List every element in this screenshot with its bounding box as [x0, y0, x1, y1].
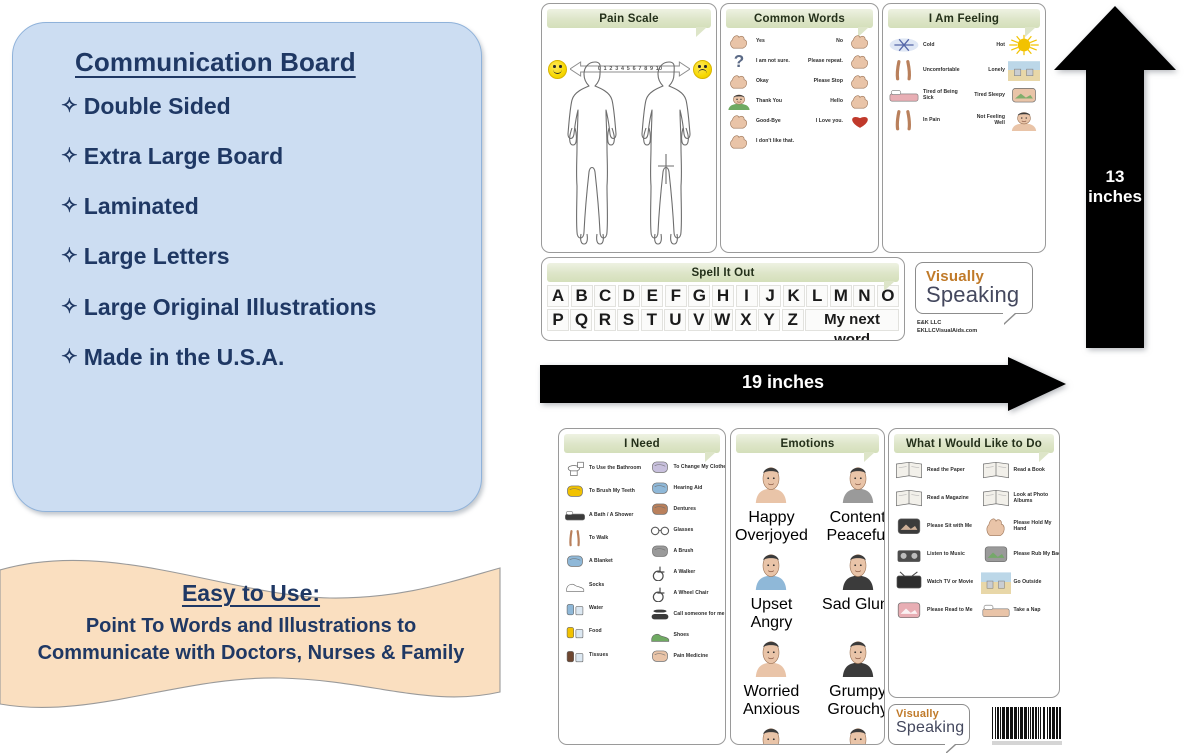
feature-item: ✧ Extra Large Board [61, 144, 459, 168]
barcode [992, 707, 1062, 745]
pictogram-label: A Brush [674, 548, 694, 554]
barcode-bar [1000, 707, 1001, 739]
common-words-grid: YesNo?I am not sure.Please repeat.OkayPl… [721, 28, 878, 150]
pictogram-label: Glasses [674, 527, 694, 533]
book-icon [981, 458, 1011, 482]
pictogram-cell: Hello [801, 92, 875, 110]
alphabet-key[interactable]: Y [758, 309, 780, 331]
hand-repeat-icon [846, 52, 874, 70]
i-need-right-column: To Change My Clothes Hearing Aid Denture… [649, 458, 727, 665]
pictogram-label: Go Outside [1014, 579, 1042, 585]
brand-logo-front: Visually Speaking [915, 262, 1033, 314]
tshirt-hanger-icon [649, 458, 671, 476]
pictogram-cell: Cold [888, 34, 963, 56]
alphabet-key[interactable]: G [688, 285, 710, 307]
barcode-bar [1028, 707, 1029, 739]
emotions-grid: Happy Overjoyed Content Peaceful Stresse… [731, 453, 884, 745]
painful-wrist-icon [888, 109, 920, 131]
sock-icon [564, 576, 586, 594]
pictogram-cell: A Blanket [564, 551, 646, 571]
speech-tail-icon [945, 744, 955, 753]
barcode-bar [1024, 707, 1027, 739]
pictogram-cell: I Love you. [801, 112, 875, 130]
shoes-icon [649, 626, 671, 644]
pictogram-cell: Tired of Being Sick [888, 84, 963, 106]
feature-item-label: Extra Large Board [84, 144, 283, 168]
alphabet-key[interactable]: W [711, 309, 733, 331]
alphabet-key[interactable]: X [735, 309, 757, 331]
alphabet-key[interactable]: P [547, 309, 569, 331]
easy-line-1: Point To Words and Illustrations to [0, 613, 502, 640]
pictogram-label: Not Feeling Well [966, 114, 1006, 127]
brand-company: E&K LLC [917, 319, 941, 327]
pictogram-label: I am not sure. [756, 58, 790, 64]
pictogram-cell: To Change My Clothes [649, 458, 727, 476]
legs-walking-icon [564, 529, 586, 547]
pictogram-cell: Call someone for me [649, 605, 727, 623]
alphabet-key[interactable]: T [641, 309, 663, 331]
alphabet-key[interactable]: Q [570, 309, 592, 331]
easy-heading-wrap: Easy to Use: [0, 580, 502, 607]
nap-icon [981, 598, 1011, 622]
pictogram-label: Please Sit with Me [927, 523, 972, 529]
brand-website: EKLLCVisualAids.com [917, 327, 977, 335]
pictogram-label: Listen to Music [927, 551, 965, 557]
sad-face-portrait [838, 548, 878, 595]
bathtub-icon [564, 506, 586, 524]
heart-icon [846, 112, 874, 130]
pictogram-cell: Tissues [564, 645, 646, 665]
i-need-left-column: To Use the Bathroom To Brush My Teeth A … [564, 458, 646, 665]
feature-item: ✧ Large Letters [61, 244, 459, 268]
panel-emotions: Emotions Happy Overjoyed Content Peacefu… [730, 428, 885, 745]
alphabet-key[interactable]: V [688, 309, 710, 331]
pictogram-cell: Happy Overjoyed [735, 461, 808, 545]
barcode-bar [1040, 707, 1041, 739]
goodbye-hand-icon [725, 112, 753, 130]
diamond-bullet-icon: ✧ [61, 246, 78, 266]
alphabet-key[interactable]: F [665, 285, 687, 307]
feature-item: ✧ Laminated [61, 194, 459, 218]
alphabet-key[interactable]: N [853, 285, 875, 307]
pictogram-cell: Worried Anxious [735, 635, 808, 719]
pictogram-cell: I don't like that. [725, 132, 799, 150]
toothbrush-icon [564, 482, 586, 500]
snowflake-icon [888, 34, 920, 56]
unwell-face-icon [1008, 109, 1040, 131]
pictogram-label: Please Stop [814, 78, 843, 84]
barcode-bar [1049, 707, 1051, 739]
pictogram-label: A Bath / A Shower [589, 512, 633, 518]
body-outline-figures [542, 56, 717, 252]
feature-item-label: Laminated [84, 194, 199, 218]
brand-word-speaking: Speaking [926, 284, 1032, 306]
diamond-bullet-icon: ✧ [61, 96, 78, 116]
pictogram-cell: ?I am not sure. [725, 52, 799, 70]
eyeglasses-icon [649, 521, 671, 539]
pictogram-label: Worried Anxious [735, 683, 808, 719]
alphabet-key[interactable]: I [736, 285, 758, 307]
prescription-icon [649, 647, 671, 665]
pictogram-cell: Grumpy Grouchy [811, 635, 885, 719]
rub-back-icon [981, 542, 1011, 566]
television-icon [894, 570, 924, 594]
pictogram-cell: To Walk [564, 528, 646, 548]
pictogram-cell: Please Rub My Back [981, 542, 1061, 566]
easy-to-use-text: Easy to Use: Point To Words and Illustra… [0, 580, 502, 667]
pictogram-label: To Walk [589, 535, 608, 541]
empty-beach-chairs-icon [1008, 59, 1040, 81]
pictogram-label: Dentures [674, 506, 696, 512]
pictogram-cell: Read a Book [981, 458, 1061, 482]
feature-item-label: Made in the U.S.A. [84, 345, 285, 369]
pictogram-cell: Good-Bye [725, 112, 799, 130]
panel-header: Common Words [726, 9, 873, 28]
read-to-me-icon [894, 598, 924, 622]
open-palm-icon [846, 72, 874, 90]
pictogram-label: Look at Photo Albums [1014, 492, 1061, 505]
panel-pain-scale: Pain Scale 012345678910 [541, 3, 717, 253]
pictogram-label: Yes [756, 38, 765, 44]
pictogram-label: Read a Magazine [927, 495, 969, 501]
pictogram-cell: Lonely [966, 59, 1041, 81]
feature-item: ✧ Made in the U.S.A. [61, 345, 459, 369]
width-label: 19 inches [538, 372, 1028, 393]
panel-header: Emotions [736, 434, 879, 453]
barcode-bar [1020, 707, 1023, 739]
pictogram-cell: To Brush My Teeth [564, 481, 646, 501]
height-dimension-arrow: 13 inches [1050, 2, 1180, 352]
thank-you-face-icon [725, 92, 753, 110]
pictogram-cell: Thank You [725, 92, 799, 110]
alphabet-key[interactable]: J [759, 285, 781, 307]
panel-title: Pain Scale [599, 13, 659, 25]
ok-hand-icon [725, 72, 753, 90]
sore-arm-icon [888, 59, 920, 81]
pictogram-label: Call someone for me [674, 611, 725, 617]
pictogram-label: A Walker [674, 569, 696, 575]
diamond-bullet-icon: ✧ [61, 297, 78, 317]
feature-box: Communication Board ✧ Double Sided ✧ Ext… [12, 22, 482, 512]
barcode-base [992, 741, 1062, 745]
pictogram-cell: Read a Magazine [894, 486, 978, 510]
thumbs-down-icon [846, 32, 874, 50]
pictogram-cell: Look at Photo Albums [981, 486, 1061, 510]
feature-list: ✧ Double Sided ✧ Extra Large Board ✧ Lam… [61, 94, 459, 369]
pictogram-label: Good-Bye [756, 118, 781, 124]
alphabet-key[interactable]: M [830, 285, 852, 307]
panel-spell-it-out: Spell It Out ABCDEFGHIJKLMNO PQRSTUVWXYZ… [541, 257, 905, 341]
alphabet-key[interactable]: C [594, 285, 616, 307]
panel-i-need: I Need To Use the Bathroom To Brush My T… [558, 428, 726, 745]
feature-item-label: Double Sided [84, 94, 231, 118]
pictogram-label: Take a Nap [1014, 607, 1041, 613]
barcode-bar [1010, 707, 1013, 739]
alphabet-row-1: ABCDEFGHIJKLMNO [547, 285, 899, 307]
pictogram-cell: Sad Glum [811, 548, 885, 632]
barcode-bar [995, 707, 996, 739]
next-word-key[interactable]: My next word [805, 309, 899, 331]
walker-icon [649, 563, 671, 581]
barcode-bar [992, 707, 993, 739]
pictogram-label: Hot [996, 42, 1005, 48]
pictogram-label: To Brush My Teeth [589, 488, 635, 494]
happy-face-portrait [751, 461, 791, 508]
content-face-portrait [838, 461, 878, 508]
pictogram-label: Water [589, 605, 603, 611]
pictogram-label: Hearing Aid [674, 485, 703, 491]
blanket-icon [564, 552, 586, 570]
toilet-icon [564, 459, 586, 477]
feature-item: ✧ Large Original Illustrations [61, 295, 459, 319]
alphabet-key[interactable]: E [641, 285, 663, 307]
pictogram-label: To Use the Bathroom [589, 465, 641, 471]
brand-word-speaking: Speaking [896, 720, 969, 736]
barcode-bar [997, 707, 999, 739]
alphabet-key[interactable]: U [664, 309, 686, 331]
waving-hand-icon [846, 92, 874, 110]
pictogram-cell: Socks [564, 575, 646, 595]
pictogram-cell: A Brush [649, 542, 727, 560]
question-mark-icon: ? [725, 52, 753, 70]
pictogram-label: Tissues [589, 652, 608, 658]
panel-header: What I Would Like to Do [894, 434, 1054, 453]
diamond-bullet-icon: ✧ [61, 196, 78, 216]
bored-face-portrait [838, 722, 878, 745]
panel-title: What I Would Like to Do [906, 438, 1042, 450]
sit-with-me-icon [894, 514, 924, 538]
pictogram-cell: Okay [725, 72, 799, 90]
pictogram-label: Hello [830, 98, 843, 104]
pictogram-label: Cold [923, 42, 935, 48]
barcode-bar [1038, 707, 1039, 739]
pictogram-label: I don't like that. [756, 138, 794, 144]
pictogram-cell: Please repeat. [801, 52, 875, 70]
pictogram-label: Happy Overjoyed [735, 509, 808, 545]
pictogram-label: Sad Glum [822, 596, 885, 614]
pictogram-cell: Watch TV or Movie [894, 570, 978, 594]
pictogram-label: Please Hold My Hand [1014, 520, 1061, 533]
pictogram-cell: Glasses [649, 521, 727, 539]
infographic-canvas: Communication Board ✧ Double Sided ✧ Ext… [0, 0, 1191, 745]
angry-face-portrait [751, 548, 791, 595]
alphabet-key[interactable]: A [547, 285, 569, 307]
pictogram-label: Lonely [988, 67, 1005, 73]
speech-tail-icon [696, 27, 707, 37]
pictogram-label: A Blanket [589, 558, 613, 564]
alphabet-keypad: ABCDEFGHIJKLMNO PQRSTUVWXYZMy next word [542, 282, 904, 338]
barcode-bar [1043, 707, 1045, 739]
pictogram-label: Food [589, 628, 602, 634]
speech-tail-icon [884, 281, 895, 291]
barcode-bar [1014, 707, 1017, 739]
pictogram-cell: A Bath / A Shower [564, 505, 646, 525]
afraid-face-portrait [751, 722, 791, 745]
pictogram-cell: Please Read to Me [894, 598, 978, 622]
pictogram-cell: A Wheel Chair [649, 584, 727, 602]
alphabet-key[interactable]: K [783, 285, 805, 307]
panel-header: Spell It Out [547, 263, 899, 282]
diamond-bullet-icon: ✧ [61, 347, 78, 367]
pictogram-label: Thank You [756, 98, 782, 104]
barcode-bar [1006, 707, 1009, 739]
pictogram-cell: Afraid Terrified [735, 722, 808, 745]
water-bottle-glass-icon [564, 599, 586, 617]
diamond-bullet-icon: ✧ [61, 146, 78, 166]
thumbs-up-icon [725, 32, 753, 50]
pictogram-cell: In Pain [888, 109, 963, 131]
tissue-box-icon [564, 646, 586, 664]
panel-i-am-feeling: I Am Feeling ColdHotUncomfortable Lonely… [882, 3, 1046, 253]
width-dimension-arrow: 19 inches [538, 355, 1068, 413]
outdoors-icon [981, 570, 1011, 594]
pictogram-label: I Love you. [816, 118, 843, 124]
pictogram-cell: Food [564, 621, 646, 641]
magazine-icon [894, 486, 924, 510]
pictogram-label: Shoes [674, 632, 690, 638]
speech-tail-icon [1003, 312, 1016, 324]
alphabet-row-2: PQRSTUVWXYZMy next word [547, 309, 899, 331]
svg-text:?: ? [734, 52, 744, 70]
pictogram-cell: Go Outside [981, 570, 1061, 594]
dislike-hand-icon [725, 132, 753, 150]
pictogram-label: Read a Book [1014, 467, 1045, 473]
easy-to-use-banner: Easy to Use: Point To Words and Illustra… [0, 552, 502, 737]
holding-hands-icon [981, 514, 1011, 538]
i-need-columns: To Use the Bathroom To Brush My Teeth A … [559, 453, 726, 665]
pictogram-cell: Tired Sleepy [966, 84, 1041, 106]
alphabet-key[interactable]: L [806, 285, 828, 307]
what-to-do-columns: Read the Paper Read a Magazine Please Si… [889, 453, 1060, 622]
pictogram-label: Pain Medicine [674, 653, 709, 659]
alphabet-key[interactable]: Z [782, 309, 804, 331]
pictogram-label: Content Peaceful [811, 509, 885, 545]
photo-album-icon [981, 486, 1011, 510]
pictogram-cell: Upset Angry [735, 548, 808, 632]
panel-header: I Need [564, 434, 720, 453]
alphabet-key[interactable]: B [571, 285, 593, 307]
panel-common-words: Common Words YesNo?I am not sure.Please … [720, 3, 879, 253]
pictogram-cell: No [801, 32, 875, 50]
page-title: Communication Board [75, 47, 459, 78]
music-player-icon [894, 542, 924, 566]
what-to-do-right-column: Read a Book Look at Photo AlbumsPlease H… [981, 458, 1061, 622]
pictogram-label: Socks [589, 582, 604, 588]
alphabet-key[interactable]: R [594, 309, 616, 331]
pictogram-label: Tired Sleepy [974, 92, 1005, 98]
pictogram-cell: To Use the Bathroom [564, 458, 646, 478]
hairbrush-icon [649, 542, 671, 560]
newspaper-icon [894, 458, 924, 482]
pictogram-cell: Yes [725, 32, 799, 50]
sleepy-person-icon [1008, 84, 1040, 106]
barcode-bar [1002, 707, 1005, 739]
pictogram-cell: Please Sit with Me [894, 514, 978, 538]
alphabet-key[interactable]: D [618, 285, 640, 307]
sun-icon [1008, 34, 1040, 56]
feature-item-label: Large Original Illustrations [84, 295, 377, 319]
panel-title: Spell It Out [691, 267, 754, 279]
pictogram-label: Okay [756, 78, 769, 84]
pictogram-cell: Take a Nap [981, 598, 1061, 622]
pictogram-cell: Dentures [649, 500, 727, 518]
panel-header: Pain Scale [547, 9, 711, 28]
easy-heading: Easy to Use: [182, 580, 320, 607]
feature-item-label: Large Letters [84, 244, 230, 268]
panel-title: Common Words [754, 13, 845, 25]
barcode-bar [1059, 707, 1061, 739]
panel-header: I Am Feeling [888, 9, 1040, 28]
barcode-bar [1035, 707, 1037, 739]
pictogram-label: Please repeat. [808, 58, 843, 64]
wheelchair-icon [649, 584, 671, 602]
food-plate-icon [564, 622, 586, 640]
ear-icon [649, 479, 671, 497]
barcode-bar [1030, 707, 1031, 739]
pictogram-label: Upset Angry [735, 596, 808, 632]
hospital-bed-icon [888, 84, 920, 106]
telephone-icon [649, 605, 671, 623]
height-unit: inches [1050, 187, 1180, 207]
feature-item: ✧ Double Sided [61, 94, 459, 118]
pictogram-cell: Listen to Music [894, 542, 978, 566]
pictogram-cell: Pain Medicine [649, 647, 727, 665]
brand-logo-back: Visually Speaking [888, 704, 970, 745]
pictogram-label: Grumpy Grouchy [811, 683, 885, 719]
pictogram-label: Read the Paper [927, 467, 965, 473]
pictogram-label: Tired of Being Sick [923, 89, 963, 102]
pictogram-label: A Wheel Chair [674, 590, 709, 596]
panel-title: Emotions [781, 438, 835, 450]
pictogram-cell: A Walker [649, 563, 727, 581]
barcode-bar [1052, 707, 1055, 739]
barcode-bar [1047, 707, 1048, 739]
pictogram-label: No [836, 38, 843, 44]
panel-what-to-do: What I Would Like to Do Read the Paper R… [888, 428, 1060, 698]
i-am-feeling-grid: ColdHotUncomfortable Lonely Tired of Bei… [883, 28, 1045, 131]
pictogram-cell: Water [564, 598, 646, 618]
grumpy-face-portrait [838, 635, 878, 682]
pictogram-cell: Please Hold My Hand [981, 514, 1061, 538]
pictogram-cell: Bored Disinterested [811, 722, 885, 745]
worried-face-portrait [751, 635, 791, 682]
pictogram-cell: Uncomfortable [888, 59, 963, 81]
pictogram-cell: Content Peaceful [811, 461, 885, 545]
pictogram-cell: Shoes [649, 626, 727, 644]
pictogram-label: Please Rub My Back [1014, 551, 1061, 557]
barcode-bar [1018, 707, 1019, 739]
pictogram-label: Watch TV or Movie [927, 579, 973, 585]
alphabet-key[interactable]: H [712, 285, 734, 307]
barcode-bar [1056, 707, 1058, 739]
dentures-icon [649, 500, 671, 518]
pictogram-cell: Please Stop [801, 72, 875, 90]
pictogram-cell: Hearing Aid [649, 479, 727, 497]
barcode-bar [1032, 707, 1034, 739]
pictogram-label: Uncomfortable [923, 67, 960, 73]
panel-title: I Am Feeling [929, 13, 999, 25]
easy-line-2: Communicate with Doctors, Nurses & Famil… [0, 640, 502, 667]
alphabet-key[interactable]: S [617, 309, 639, 331]
panel-title: I Need [624, 438, 660, 450]
height-label: 13 inches [1050, 167, 1180, 206]
pictogram-cell: Read the Paper [894, 458, 978, 482]
pictogram-cell: Hot [966, 34, 1041, 56]
pictogram-cell: Not Feeling Well [966, 109, 1041, 131]
pictogram-label: In Pain [923, 117, 940, 123]
what-to-do-left-column: Read the Paper Read a Magazine Please Si… [894, 458, 978, 622]
height-value: 13 [1050, 167, 1180, 187]
